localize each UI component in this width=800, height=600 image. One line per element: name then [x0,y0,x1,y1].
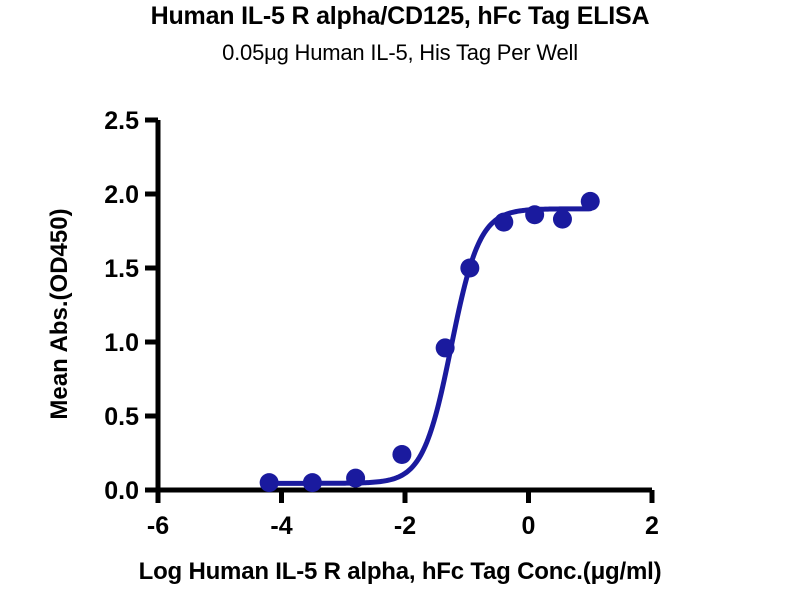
y-tick-label: 2.5 [104,107,139,135]
x-tick-label: -6 [147,512,169,540]
data-point [460,259,479,278]
x-tick-label: -2 [394,512,416,540]
y-tick-label: 0.0 [104,477,139,505]
data-point [525,205,544,224]
chart-figure: Human IL-5 R alpha/CD125, hFc Tag ELISA … [0,0,800,600]
x-tick-label: 0 [522,512,536,540]
plot-area: 0.00.51.01.52.02.5 -6-4-202 [0,0,800,600]
y-tick-label: 1.0 [104,329,139,357]
x-tick-label: 2 [645,512,659,540]
y-tick-label: 1.5 [104,255,139,283]
y-tick-label: 0.5 [104,403,139,431]
data-point [392,445,411,464]
data-point [494,213,513,232]
data-point [553,210,572,229]
y-tick-label: 2.0 [104,181,139,209]
x-axis-ticks: -6-4-202 [147,490,659,540]
data-point [303,473,322,492]
data-point [581,192,600,211]
fit-curve [269,209,590,484]
data-point [346,469,365,488]
data-point-markers [260,192,600,492]
x-tick-label: -4 [270,512,292,540]
data-point [260,473,279,492]
data-point [436,338,455,357]
y-axis-ticks: 0.00.51.01.52.02.5 [104,107,158,505]
